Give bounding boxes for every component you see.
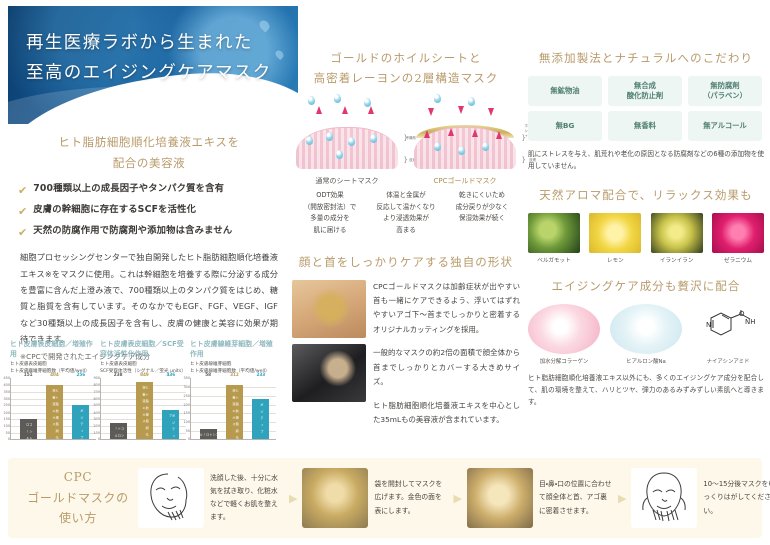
- additive-free-title: 無添加製法とナチュラルへのこだわり: [528, 48, 764, 68]
- status-badge: 無防腐剤 （パラベン）: [688, 76, 762, 106]
- aroma-label: ベルガモット: [528, 256, 580, 264]
- hero-banner: 再生医療ラボから生まれた 至高のエイジングケアマスク: [8, 6, 298, 124]
- mask-hands-photo: [292, 280, 366, 338]
- face-wash-illustration: [138, 468, 204, 528]
- water-drop-icon: [274, 49, 285, 60]
- ingredient-item: ヒアルロン酸Na: [610, 304, 682, 365]
- bar-positive: ポ ジ テ ィ ブ: [162, 410, 179, 440]
- brochure-page: 再生医療ラボから生まれた 至高のエイジングケアマスク ヒト脂肪細胞順化培養液エキ…: [0, 0, 770, 545]
- aroma-item: ベルガモット: [528, 213, 580, 264]
- chart-title: ヒト皮膚線維芽細胞／増殖作用: [190, 340, 276, 360]
- skin-layer: [414, 127, 516, 169]
- chart-scf-activation: ヒト皮膚表皮細胞／SCF受容体活性化作用 ヒト皮膚表皮細胞 SCF受容体活性（シ…: [100, 340, 186, 440]
- bar-extract: ヒ ト 脂 肪 細 胞 順 化 培 養 液 エ キ ス: [226, 385, 243, 439]
- bar-group: 58 コ ン ト ロ ー ル: [200, 378, 217, 439]
- left-column: ヒト脂肪細胞順化培養液エキスを 配合の美容液 ✔ 700種類以上の成長因子やタン…: [8, 128, 290, 364]
- bar-value: 256: [76, 372, 85, 404]
- right-column: 無添加製法とナチュラルへのこだわり 無鉱物油 無合成 酸化防止剤 無防腐剤 （パ…: [528, 48, 764, 408]
- arrow-down-icon: [458, 106, 464, 114]
- chart-y-axis: 450 400 350 300 250 200 150 100 50 0: [0, 378, 11, 439]
- mask-benefit-notes: ODT効果 （開放密封法）で 多量の成分を 肌に届ける 体温と金属が 反応して温…: [292, 190, 520, 236]
- ingredient-title: エイジングケア成分も贅沢に配合: [528, 276, 764, 296]
- brace-icon: }: [404, 156, 408, 164]
- face-icon: [631, 468, 697, 528]
- chart-title: ヒト皮膚表皮細胞／SCF受容体活性化作用: [100, 340, 186, 360]
- list-item: ✔ 700種類以上の成長因子やタンパク質を含有: [18, 183, 286, 197]
- shape-paragraph-2: 一般的なマスクの約2倍の面積で顔全体から首までしっかりとカバーする大きめサイズ。: [373, 346, 520, 389]
- normal-mask-caption: 通常のシートマスク: [294, 176, 400, 186]
- benefit-note-moisture: 乾きにくいため 成分戻りが少なく 保湿効果が続く: [446, 190, 518, 236]
- bar-extract: ヒ ト 脂 肪 細 胞 順 化 培 養 液 エ キ ス: [136, 382, 153, 440]
- usage-step-3-text: 目・鼻・口の位置に合わせて顔全体と首、アゴ裏に密着させます。: [539, 478, 613, 518]
- cpc-gold-mask-caption: CPCゴールドマスク: [412, 176, 518, 186]
- ingredient-note: ヒト脂肪細胞順化培養液エキス以外にも、多くのエイジングケア成分を配合して、肌の環…: [528, 372, 764, 409]
- bar-group: 436 ポ ジ テ ィ ブ: [162, 378, 179, 439]
- efficacy-charts: ヒト皮膚表皮細胞／増殖作用 ヒト皮膚表皮細胞 ヒト皮膚繊維芽細胞数（平均値/we…: [10, 340, 278, 440]
- page-title: 再生医療ラボから生まれた 至高のエイジングケアマスク: [26, 28, 272, 88]
- chevron-right-icon: ▶: [453, 492, 461, 505]
- cpc-gold-mask-diagram: } ホイル シート ＋不織布 } 皮膚 CPCゴールドマスク: [412, 94, 518, 186]
- geranium-photo: [712, 213, 764, 253]
- serum-description-text: 細胞プロセッシングセンターで独自開発したヒト脂肪細胞順化培養液エキス※をマスクに…: [20, 249, 278, 347]
- bar-value: 151: [24, 372, 33, 419]
- aroma-title: 天然アロマ配合で、リラックス効果も: [528, 185, 764, 205]
- chart-y-axis: 900 800 700 600 500 400 300 200 100 0: [88, 378, 101, 439]
- arrow-up-icon: [342, 106, 348, 114]
- ingredient-label: ヒアルロン酸Na: [610, 357, 682, 365]
- bar-control: コ ン ト ロ ー ル: [20, 419, 37, 439]
- svg-text:O: O: [739, 310, 745, 318]
- chart-epidermal-proliferation: ヒト皮膚表皮細胞／増殖作用 ヒト皮膚表皮細胞 ヒト皮膚繊維芽細胞数（平均値/we…: [10, 340, 96, 440]
- check-icon: ✔: [18, 204, 27, 218]
- mask-comparison-diagram: } 不織布 } 皮膚 通常のシートマスク: [292, 94, 520, 186]
- chart-plot-area: 350 300 250 200 150 100 50 0 58 コ ン: [190, 378, 276, 440]
- usage-step-3: 目・鼻・口の位置に合わせて顔全体と首、アゴ裏に密着させます。: [467, 468, 613, 528]
- status-badge: 無香料: [608, 111, 682, 141]
- hero-title-line2: 至高のエイジングケアマスク: [26, 63, 272, 83]
- mask-unfold-photo: [302, 468, 368, 528]
- hyaluronic-acid-photo: [610, 304, 682, 354]
- brace-icon: }: [522, 156, 526, 164]
- niacinamide-structure: N O NH: [692, 304, 764, 354]
- chart-y-axis: 350 300 250 200 150 100 50 0: [178, 378, 191, 439]
- usage-step-4: 10〜15分後マスクをゆっくりはがしてください。: [631, 468, 770, 528]
- chevron-right-icon: ▶: [289, 492, 297, 505]
- usage-step-1: 洗顔した後、十分に水気を拭き取り、化粧水などで軽くお肌を整えます。: [138, 468, 284, 528]
- svg-text:N: N: [706, 321, 711, 329]
- bar-value: 404: [50, 372, 59, 384]
- check-label: 皮膚の幹細胞に存在するSCFを活性化: [33, 204, 196, 216]
- normal-mask-diagram: } 不織布 } 皮膚 通常のシートマスク: [294, 94, 400, 186]
- ingredient-section: エイジングケア成分も贅沢に配合 加水分解コラーゲン ヒアルロン酸Na: [528, 276, 764, 409]
- shape-paragraph-1: CPCゴールドマスクは加齢症状が出やすい首も一緒にケアできるよう、浮いてはずれや…: [373, 280, 520, 338]
- status-badge: 無BG: [528, 111, 602, 141]
- usage-step-1-text: 洗顔した後、十分に水気を拭き取り、化粧水などで軽くお肌を整えます。: [210, 472, 284, 525]
- chart-plot-area: 450 400 350 300 250 200 150 100 50 0: [10, 378, 96, 440]
- bar-group: 233 ポ ジ テ ィ ブ: [252, 378, 269, 439]
- status-badge: 無アルコール: [688, 111, 762, 141]
- serum-lead-line2: 配合の美容液: [113, 156, 186, 170]
- water-drop-icon: [434, 94, 441, 103]
- check-icon: ✔: [18, 183, 27, 197]
- bar-control: コ ン ト ロ ー ル: [200, 429, 217, 439]
- benefit-note-odt: ODT効果 （開放密封法）で 多量の成分を 肌に届ける: [294, 190, 366, 236]
- arrow-up-icon: [316, 106, 322, 114]
- aroma-item: イランイラン: [651, 213, 703, 264]
- ingredient-item: N O NH ナイアシンアミド: [692, 304, 764, 365]
- bar-value: 312: [230, 372, 239, 385]
- aroma-label: ゼラニウム: [712, 256, 764, 264]
- mask-shape-title: 顔と首をしっかりケアする独自の形状: [292, 252, 520, 272]
- additive-free-note: 肌にストレスを与え、肌荒れや老化の原因となる防腐剤などの6種の添加物を使用してい…: [528, 148, 764, 172]
- svg-text:NH: NH: [745, 318, 756, 326]
- water-drop-icon: [468, 97, 475, 106]
- usage-step-2: 袋を開封してマスクを広げます。金色の面を表にします。: [302, 468, 448, 528]
- bar-extract: ヒ ト 脂 肪 細 胞 順 化 培 養 液 エ キ ス: [46, 385, 63, 440]
- mask-package-photo: [292, 344, 366, 402]
- list-item: ✔ 天然の防腐作用で防腐剤や添加物は含みません: [18, 225, 286, 239]
- additive-free-badges: 無鉱物油 無合成 酸化防止剤 無防腐剤 （パラベン） 無BG 無香料 無アルコー…: [528, 76, 764, 141]
- shape-paragraph-3: ヒト脂肪細胞順化培養液エキスを中心とした35mLもの美容液が含まれています。: [373, 399, 520, 428]
- chart-fibroblast-proliferation: ヒト皮膚線維芽細胞／増殖作用 ヒト皮膚線維芽細胞 ヒト皮膚線維芽細胞数（平均値/…: [190, 340, 276, 440]
- bar-positive: ポ ジ テ ィ ブ: [252, 399, 269, 440]
- mask-shape-description: CPCゴールドマスクは加齢症状が出やすい首も一緒にケアできるよう、浮いてはずれや…: [373, 280, 520, 428]
- bar-value: 233: [256, 372, 265, 398]
- ingredient-label: ナイアシンアミド: [692, 357, 764, 365]
- bar-value: 849: [140, 372, 149, 381]
- hero-title-line1: 再生医療ラボから生まれた: [26, 33, 253, 53]
- aroma-item: ゼラニウム: [712, 213, 764, 264]
- skin-layer: [296, 127, 398, 169]
- status-badge: 無鉱物油: [528, 76, 602, 106]
- face-icon: [138, 468, 204, 528]
- check-icon: ✔: [18, 225, 27, 239]
- chart-title: ヒト皮膚表皮細胞／増殖作用: [10, 340, 96, 360]
- usage-title: CPC ゴールドマスクの 使い方: [18, 467, 138, 528]
- ingredient-label: 加水分解コラーゲン: [528, 357, 600, 365]
- bar-positive: ポ ジ テ ィ ブ: [72, 405, 89, 440]
- feature-check-list: ✔ 700種類以上の成長因子やタンパク質を含有 ✔ 皮膚の幹細胞に存在するSCF…: [8, 181, 290, 240]
- usage-step-4-text: 10〜15分後マスクをゆっくりはがしてください。: [703, 478, 770, 518]
- ingredient-item: 加水分解コラーゲン: [528, 304, 600, 365]
- mask-apply-photo: [467, 468, 533, 528]
- serum-lead-line1: ヒト脂肪細胞順化培養液エキスを: [58, 135, 239, 149]
- aroma-label: イランイラン: [651, 256, 703, 264]
- mask-shape-section: 顔と首をしっかりケアする独自の形状 CPCゴールドマスクは加齢症状が出やすい首も…: [292, 252, 520, 427]
- ylang-ylang-photo: [651, 213, 703, 253]
- molecule-icon: N O NH: [699, 310, 757, 348]
- bar-group: 404 ヒ ト 脂 肪 細 胞 順 化 培 養 液 エ キ ス: [46, 378, 63, 439]
- bar-value: 58: [205, 372, 211, 429]
- chart-plot-area: 900 800 700 600 500 400 300 200 100 0: [100, 378, 186, 440]
- benefit-note-warmth: 体温と金属が 反応して温かくなり より浸透効果が 高まる: [370, 190, 442, 236]
- aroma-item: レモン: [589, 213, 641, 264]
- water-drop-icon: [334, 94, 341, 103]
- status-badge: 無合成 酸化防止剤: [608, 76, 682, 106]
- bar-group: 238 コ ン ト ロ ー ル: [110, 378, 127, 439]
- serum-lead-heading: ヒト脂肪細胞順化培養液エキスを 配合の美容液: [8, 128, 290, 181]
- bar-value: 436: [166, 372, 175, 409]
- usage-instructions-bar: CPC ゴールドマスクの 使い方 洗顔した後、十分に水気を拭き取り、化粧水など: [8, 458, 762, 538]
- lemon-photo: [589, 213, 641, 253]
- mask-shape-images: [292, 280, 366, 428]
- collagen-photo: [528, 304, 600, 354]
- bar-group: 256 ポ ジ テ ィ ブ: [72, 378, 89, 439]
- bergamot-photo: [528, 213, 580, 253]
- bar-group: 312 ヒ ト 脂 肪 細 胞 順 化 培 養 液 エ キ ス: [226, 378, 243, 439]
- aroma-label: レモン: [589, 256, 641, 264]
- arrow-down-icon: [488, 108, 494, 116]
- aroma-section: 天然アロマ配合で、リラックス効果も ベルガモット レモン イランイラン ゼラニウ…: [528, 185, 764, 264]
- arrow-down-icon: [428, 108, 434, 116]
- water-drop-icon: [308, 96, 315, 105]
- mask-remove-illustration: [631, 468, 697, 528]
- bar-group: 151 コ ン ト ロ ー ル: [20, 378, 37, 439]
- check-label: 天然の防腐作用で防腐剤や添加物は含みません: [33, 225, 232, 237]
- bar-group: 849 ヒ ト 脂 肪 細 胞 順 化 培 養 液 エ キ ス: [136, 378, 153, 439]
- list-item: ✔ 皮膚の幹細胞に存在するSCFを活性化: [18, 204, 286, 218]
- check-label: 700種類以上の成長因子やタンパク質を含有: [33, 183, 224, 195]
- bar-value: 238: [114, 372, 123, 423]
- usage-step-2-text: 袋を開封してマスクを広げます。金色の面を表にします。: [374, 478, 448, 518]
- bar-control: コ ン ト ロ ー ル: [110, 423, 127, 439]
- middle-column: ゴールドのホイルシートと 高密着レーヨンの2層構造マスク } 不織: [292, 48, 520, 427]
- chevron-right-icon: ▶: [618, 492, 626, 505]
- mask-structure-title: ゴールドのホイルシートと 高密着レーヨンの2層構造マスク: [292, 48, 520, 88]
- arrow-up-icon: [368, 106, 374, 114]
